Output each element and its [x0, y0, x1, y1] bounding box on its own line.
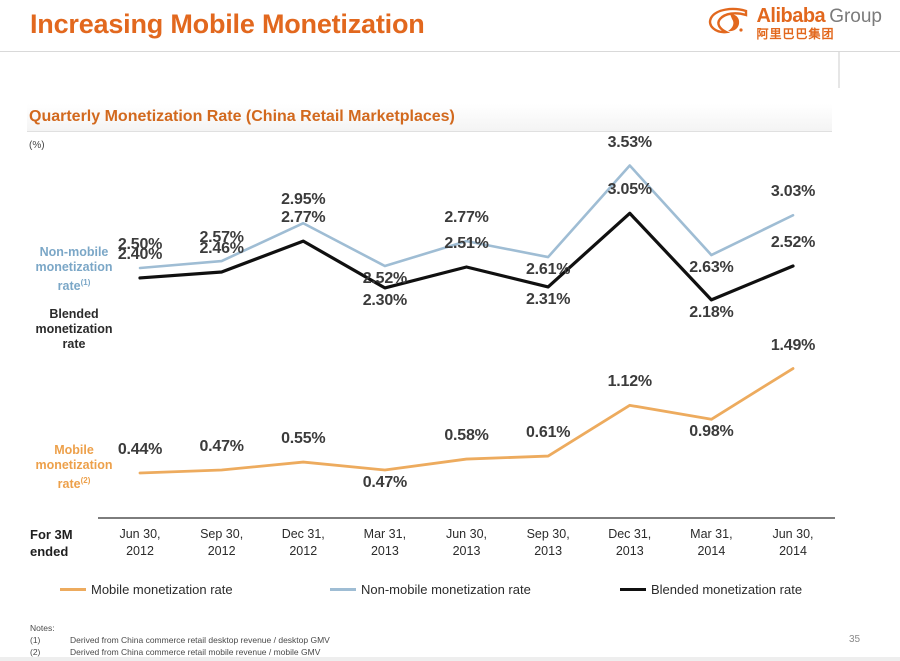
x-axis-tick-5-line1: Sep 30,	[527, 527, 570, 541]
data-label-mobile-4: 0.58%	[444, 427, 488, 445]
footnote-text-0: Derived from China commerce retail deskt…	[70, 634, 330, 646]
x-axis-tick-3-line1: Mar 31,	[364, 527, 406, 541]
chart-plot-area	[0, 0, 900, 661]
brand-chinese-name: 阿里巴巴集团	[756, 28, 882, 40]
data-label-mobile-1: 0.47%	[199, 438, 243, 456]
x-axis-row-label: For 3M ended	[30, 526, 73, 560]
data-label-mobile-5: 0.61%	[526, 424, 570, 442]
chart-lines-svg	[0, 0, 900, 661]
series-line-mobile	[140, 369, 793, 473]
x-axis-row-label-line2: ended	[30, 544, 68, 559]
data-label-mobile-8: 1.49%	[771, 337, 815, 355]
data-label-blended-2: 2.77%	[281, 209, 325, 227]
data-label-mobile-2: 0.55%	[281, 430, 325, 448]
chart-legend: Mobile monetization rateNon-mobile monet…	[60, 582, 840, 597]
x-axis-tick-2: Dec 31,2012	[258, 526, 348, 560]
series-label-mobile-line2: monetization	[35, 458, 112, 472]
brand-suffix: Group	[829, 6, 882, 27]
chart-title: Quarterly Monetization Rate (China Retai…	[29, 108, 455, 126]
x-axis-tick-3-line2: 2013	[371, 544, 399, 558]
x-axis-tick-5-line2: 2013	[534, 544, 562, 558]
series-label-mobile: Mobile monetization rate(2)	[22, 443, 126, 492]
series-label-blended-line1: Blended	[49, 307, 98, 321]
legend-label-1: Non-mobile monetization rate	[361, 582, 531, 597]
x-axis-tick-8: Jun 30,2014	[748, 526, 838, 560]
x-axis-tick-0-line2: 2012	[126, 544, 154, 558]
series-label-mobile-line1: Mobile	[54, 443, 94, 457]
series-label-blended-line3: rate	[63, 337, 86, 351]
data-label-blended-5: 2.31%	[526, 291, 570, 309]
page-title: Increasing Mobile Monetization	[30, 9, 425, 40]
header-divider-rule	[0, 51, 900, 52]
x-axis-tick-8-line2: 2014	[779, 544, 807, 558]
footnotes: Notes: (1)Derived from China commerce re…	[30, 622, 330, 658]
x-axis-tick-7: Mar 31,2014	[666, 526, 756, 560]
x-axis-tick-4-line1: Jun 30,	[446, 527, 487, 541]
data-label-non-mobile-5: 2.61%	[526, 261, 570, 279]
data-label-non-mobile-7: 2.63%	[689, 259, 733, 277]
x-axis-tick-1-line1: Sep 30,	[200, 527, 243, 541]
header-vertical-divider	[838, 52, 840, 88]
footnote-items: (1)Derived from China commerce retail de…	[30, 634, 330, 658]
x-axis-tick-7-line2: 2014	[697, 544, 725, 558]
data-label-blended-8: 2.52%	[771, 234, 815, 252]
x-axis-tick-7-line1: Mar 31,	[690, 527, 732, 541]
brand-text: AlibabaGroup 阿里巴巴集团	[756, 6, 882, 40]
data-label-blended-7: 2.18%	[689, 304, 733, 322]
x-axis-tick-4: Jun 30,2013	[422, 526, 512, 560]
data-label-non-mobile-8: 3.03%	[771, 183, 815, 201]
footnote-number-0: (1)	[30, 634, 70, 646]
x-axis-tick-3: Mar 31,2013	[340, 526, 430, 560]
legend-item-0[interactable]: Mobile monetization rate	[60, 582, 330, 597]
data-label-non-mobile-2: 2.95%	[281, 191, 325, 209]
footnotes-heading: Notes:	[30, 622, 55, 634]
data-label-blended-6: 3.05%	[608, 181, 652, 199]
series-label-mobile-footnote: (2)	[81, 476, 91, 485]
alibaba-group-logo: AlibabaGroup 阿里巴巴集团	[706, 6, 882, 44]
data-label-non-mobile-4: 2.77%	[444, 209, 488, 227]
x-axis-tick-2-line1: Dec 31,	[282, 527, 325, 541]
data-label-mobile-6: 1.12%	[608, 373, 652, 391]
x-axis-tick-8-line1: Jun 30,	[772, 527, 813, 541]
series-label-blended-line2: monetization	[35, 322, 112, 336]
x-axis-tick-0: Jun 30,2012	[95, 526, 185, 560]
page-number: 35	[849, 634, 860, 645]
x-axis-tick-6-line2: 2013	[616, 544, 644, 558]
data-label-blended-3: 2.30%	[363, 292, 407, 310]
series-label-non-mobile: Non-mobile monetization rate(1)	[22, 245, 126, 294]
footnotes-heading-row: Notes:	[30, 622, 330, 634]
data-label-non-mobile-6: 3.53%	[608, 134, 652, 152]
brand-text-row: AlibabaGroup	[756, 6, 882, 26]
data-label-non-mobile-3: 2.52%	[363, 270, 407, 288]
series-label-non-mobile-footnote: (1)	[81, 278, 91, 287]
legend-item-1[interactable]: Non-mobile monetization rate	[330, 582, 620, 597]
legend-swatch-1	[330, 588, 356, 591]
data-label-blended-4: 2.51%	[444, 235, 488, 253]
data-label-blended-1: 2.46%	[199, 240, 243, 258]
legend-swatch-0	[60, 588, 86, 591]
legend-label-2: Blended monetization rate	[651, 582, 802, 597]
legend-label-0: Mobile monetization rate	[91, 582, 233, 597]
x-axis-tick-6-line1: Dec 31,	[608, 527, 651, 541]
slide-header: Increasing Mobile Monetization AlibabaGr…	[0, 0, 900, 52]
series-label-non-mobile-line2: monetization	[35, 260, 112, 274]
legend-item-2[interactable]: Blended monetization rate	[620, 582, 802, 597]
footer-rule	[0, 657, 900, 661]
x-axis-rule	[98, 517, 835, 519]
x-axis-tick-5: Sep 30,2013	[503, 526, 593, 560]
series-label-non-mobile-line3: rate	[58, 279, 81, 293]
brand-name: Alibaba	[756, 5, 825, 27]
alibaba-logo-icon	[706, 6, 752, 36]
series-label-mobile-line3: rate	[58, 477, 81, 491]
x-axis-tick-4-line2: 2013	[453, 544, 481, 558]
series-label-non-mobile-line1: Non-mobile	[40, 245, 109, 259]
x-axis-row-label-line1: For 3M	[30, 527, 73, 542]
y-axis-unit-label: (%)	[29, 140, 45, 151]
legend-swatch-2	[620, 588, 646, 591]
x-axis-tick-2-line2: 2012	[289, 544, 317, 558]
footnote-row-0: (1)Derived from China commerce retail de…	[30, 634, 330, 646]
series-label-blended: Blended monetization rate	[22, 307, 126, 352]
data-label-mobile-3: 0.47%	[363, 474, 407, 492]
data-label-mobile-7: 0.98%	[689, 423, 733, 441]
x-axis-tick-0-line1: Jun 30,	[119, 527, 160, 541]
x-axis-tick-1-line2: 2012	[208, 544, 236, 558]
x-axis-tick-6: Dec 31,2013	[585, 526, 675, 560]
x-axis-tick-1: Sep 30,2012	[177, 526, 267, 560]
